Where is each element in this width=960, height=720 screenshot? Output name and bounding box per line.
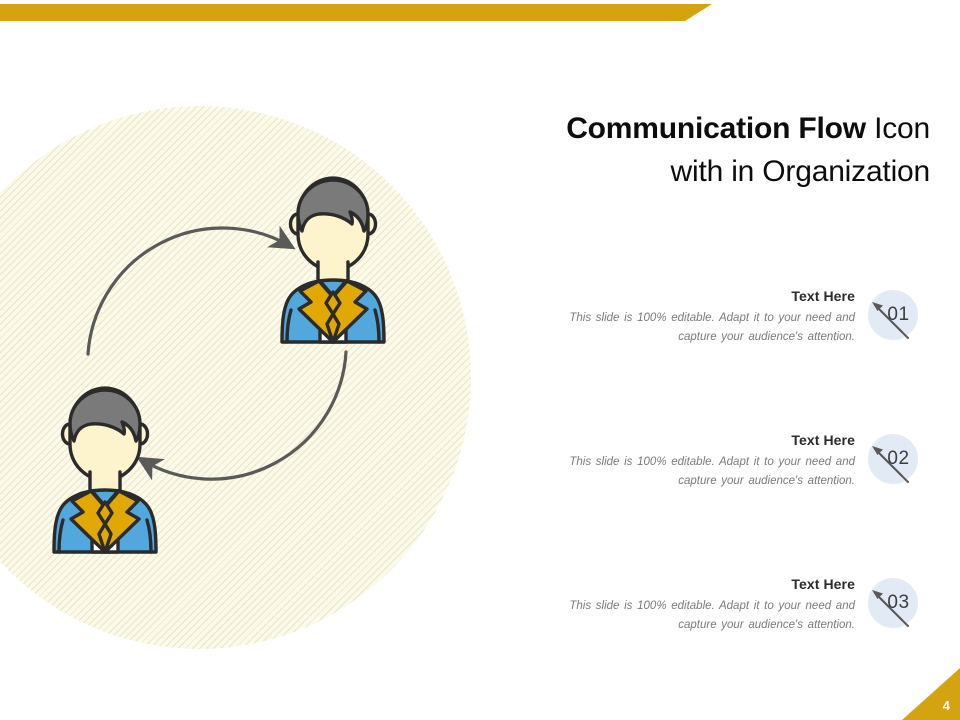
step-badge[interactable]: 02 [862, 434, 918, 490]
list-item[interactable]: Text Here This slide is 100% editable. A… [470, 576, 930, 654]
list-item-body-line2: capture your audience's attention. [678, 475, 855, 487]
step-badge[interactable]: 01 [862, 290, 918, 346]
page-title-line2: with in Organization [671, 155, 930, 188]
list-item-body: This slide is 100% editable. Adapt it to… [505, 597, 855, 634]
list-item-body-line1: This slide is 100% editable. Adapt it to… [569, 312, 855, 324]
step-badge[interactable]: 03 [862, 578, 918, 634]
list-item-text: Text Here This slide is 100% editable. A… [505, 576, 855, 634]
top-accent-band [0, 4, 712, 21]
list-item-body-line2: capture your audience's attention. [678, 331, 855, 343]
list-item-heading: Text Here [505, 576, 855, 592]
page-title-rest: Icon [866, 112, 930, 145]
illustration-area [0, 86, 500, 666]
person-suit-icon [258, 164, 408, 349]
slide-canvas: Communication Flow Icon with in Organiza… [0, 0, 960, 720]
page-title: Communication Flow Icon with in Organiza… [470, 108, 930, 193]
page-title-lead: Communication Flow [566, 112, 866, 145]
list-item-body: This slide is 100% editable. Adapt it to… [505, 453, 855, 490]
page-corner-decoration [902, 668, 960, 720]
list-item[interactable]: Text Here This slide is 100% editable. A… [470, 288, 930, 366]
list-item[interactable]: Text Here This slide is 100% editable. A… [470, 432, 930, 510]
step-badge-number: 01 [868, 290, 918, 340]
list-item-body-line1: This slide is 100% editable. Adapt it to… [569, 456, 855, 468]
list-item-body: This slide is 100% editable. Adapt it to… [505, 309, 855, 346]
list-item-text: Text Here This slide is 100% editable. A… [505, 288, 855, 346]
person-suit-icon [30, 374, 180, 559]
list-item-heading: Text Here [505, 432, 855, 448]
step-badge-number: 03 [868, 578, 918, 628]
list-item-body-line2: capture your audience's attention. [678, 619, 855, 631]
step-badge-number: 02 [868, 434, 918, 484]
page-number: 4 [943, 699, 950, 712]
list-item-heading: Text Here [505, 288, 855, 304]
list-item-body-line1: This slide is 100% editable. Adapt it to… [569, 600, 855, 612]
list-item-text: Text Here This slide is 100% editable. A… [505, 432, 855, 490]
